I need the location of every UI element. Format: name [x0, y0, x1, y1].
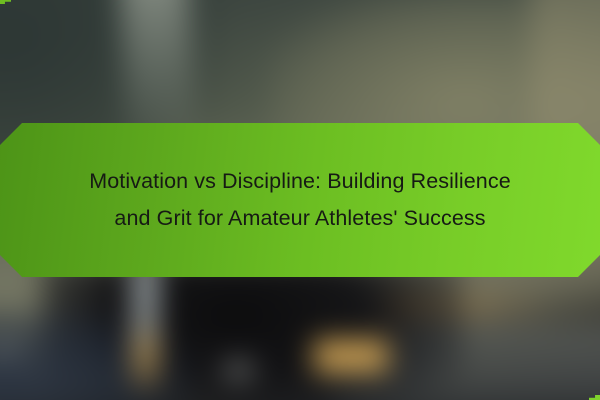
page-title: Motivation vs Discipline: Building Resil… [43, 163, 557, 237]
title-banner: Motivation vs Discipline: Building Resil… [0, 123, 600, 277]
background-shape-pale-post [133, 262, 157, 387]
background-shape-amber-block [314, 339, 389, 373]
background-highlight-spot-a [218, 358, 259, 382]
slide-canvas: Motivation vs Discipline: Building Resil… [0, 0, 600, 400]
background-highlight-spot-b [0, 339, 21, 358]
background-bottom-shadow [0, 382, 600, 400]
